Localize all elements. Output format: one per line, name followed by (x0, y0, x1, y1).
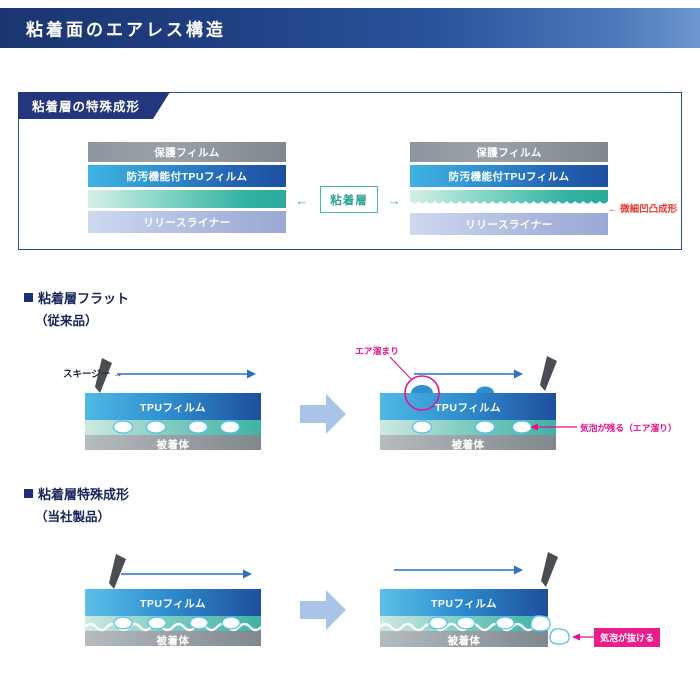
page-title: 粘着面のエアレス構造 (26, 16, 226, 41)
section-heading-flat: 粘着層フラット (24, 288, 129, 307)
bubble-remains-annotation: 気泡が残る（エア溜り） (580, 421, 677, 434)
diagram-textured-after: TPUフィルム 被着体 気泡が抜ける (372, 548, 607, 648)
left-layer-stack: 保護フィルム 防汚機能付TPUフィルム リリースライナー (88, 142, 286, 233)
section-heading-textured-text: 粘着層特殊成形 (38, 487, 129, 502)
right-arrow-icon: → (378, 194, 410, 207)
bubble-escape-badge: 気泡が抜ける (594, 628, 660, 647)
process-arrow-textured (298, 588, 348, 637)
layer-adhesive-flat (88, 190, 286, 208)
diagram-textured-before: TPUフィルム 被着体 (65, 548, 280, 646)
section-subheading-flat: （従来品） (35, 310, 98, 329)
bullet-square-icon (24, 489, 33, 498)
section-heading-textured: 粘着層特殊成形 (24, 484, 129, 503)
texture-callout: ← 微細凹凸成形 (608, 201, 677, 215)
layer-release-liner: リリースライナー (88, 211, 286, 233)
layer-release-liner: リリースライナー (410, 213, 608, 235)
squeegee-label: スキージー → (63, 366, 122, 380)
diagram-flat-before: スキージー → TPUフィルム 被着体 (65, 352, 280, 450)
adhesive-layer-label: 粘着層 (320, 186, 378, 213)
callout-arrow-icon: ← (608, 204, 618, 215)
left-arrow-icon: ← (286, 194, 318, 207)
substrate-label: 被着体 (380, 633, 548, 648)
tpu-film-label: TPUフィルム (380, 596, 548, 611)
section-heading-flat-text: 粘着層フラット (38, 291, 129, 306)
layer-adhesive-textured (410, 190, 608, 210)
layer-tpu-film: 防汚機能付TPUフィルム (410, 165, 608, 187)
substrate-label: 被着体 (85, 633, 261, 648)
bullet-square-icon (24, 293, 33, 302)
layer-protect-film: 保護フィルム (410, 142, 608, 162)
substrate-label: 被着体 (85, 437, 261, 452)
callout-text: 微細凹凸成形 (620, 204, 677, 215)
tpu-film-label: TPUフィルム (85, 596, 261, 611)
title-banner: 粘着面のエアレス構造 (0, 8, 700, 48)
section-subheading-textured: （当社製品） (35, 506, 110, 525)
substrate-label: 被着体 (380, 437, 556, 452)
diagram-flat-after: エア溜まり TPUフィルム 被着体 気泡が残る（エア溜り） (372, 352, 592, 450)
right-layer-stack: 保護フィルム 防汚機能付TPUフィルム リリースライナー (410, 142, 608, 235)
tpu-film-label: TPUフィルム (380, 400, 556, 415)
tpu-film-label: TPUフィルム (85, 400, 261, 415)
layer-tpu-film: 防汚機能付TPUフィルム (88, 165, 286, 187)
air-pocket-annotation: エア溜まり (355, 344, 399, 357)
layer-protect-film: 保護フィルム (88, 142, 286, 162)
process-arrow-flat (298, 392, 348, 441)
diagram-page: 粘着面のエアレス構造 粘着層の特殊成形 保護フィルム 防汚機能付TPUフィルム … (0, 0, 700, 700)
panel-tab-label: 粘着層の特殊成形 (18, 92, 170, 119)
